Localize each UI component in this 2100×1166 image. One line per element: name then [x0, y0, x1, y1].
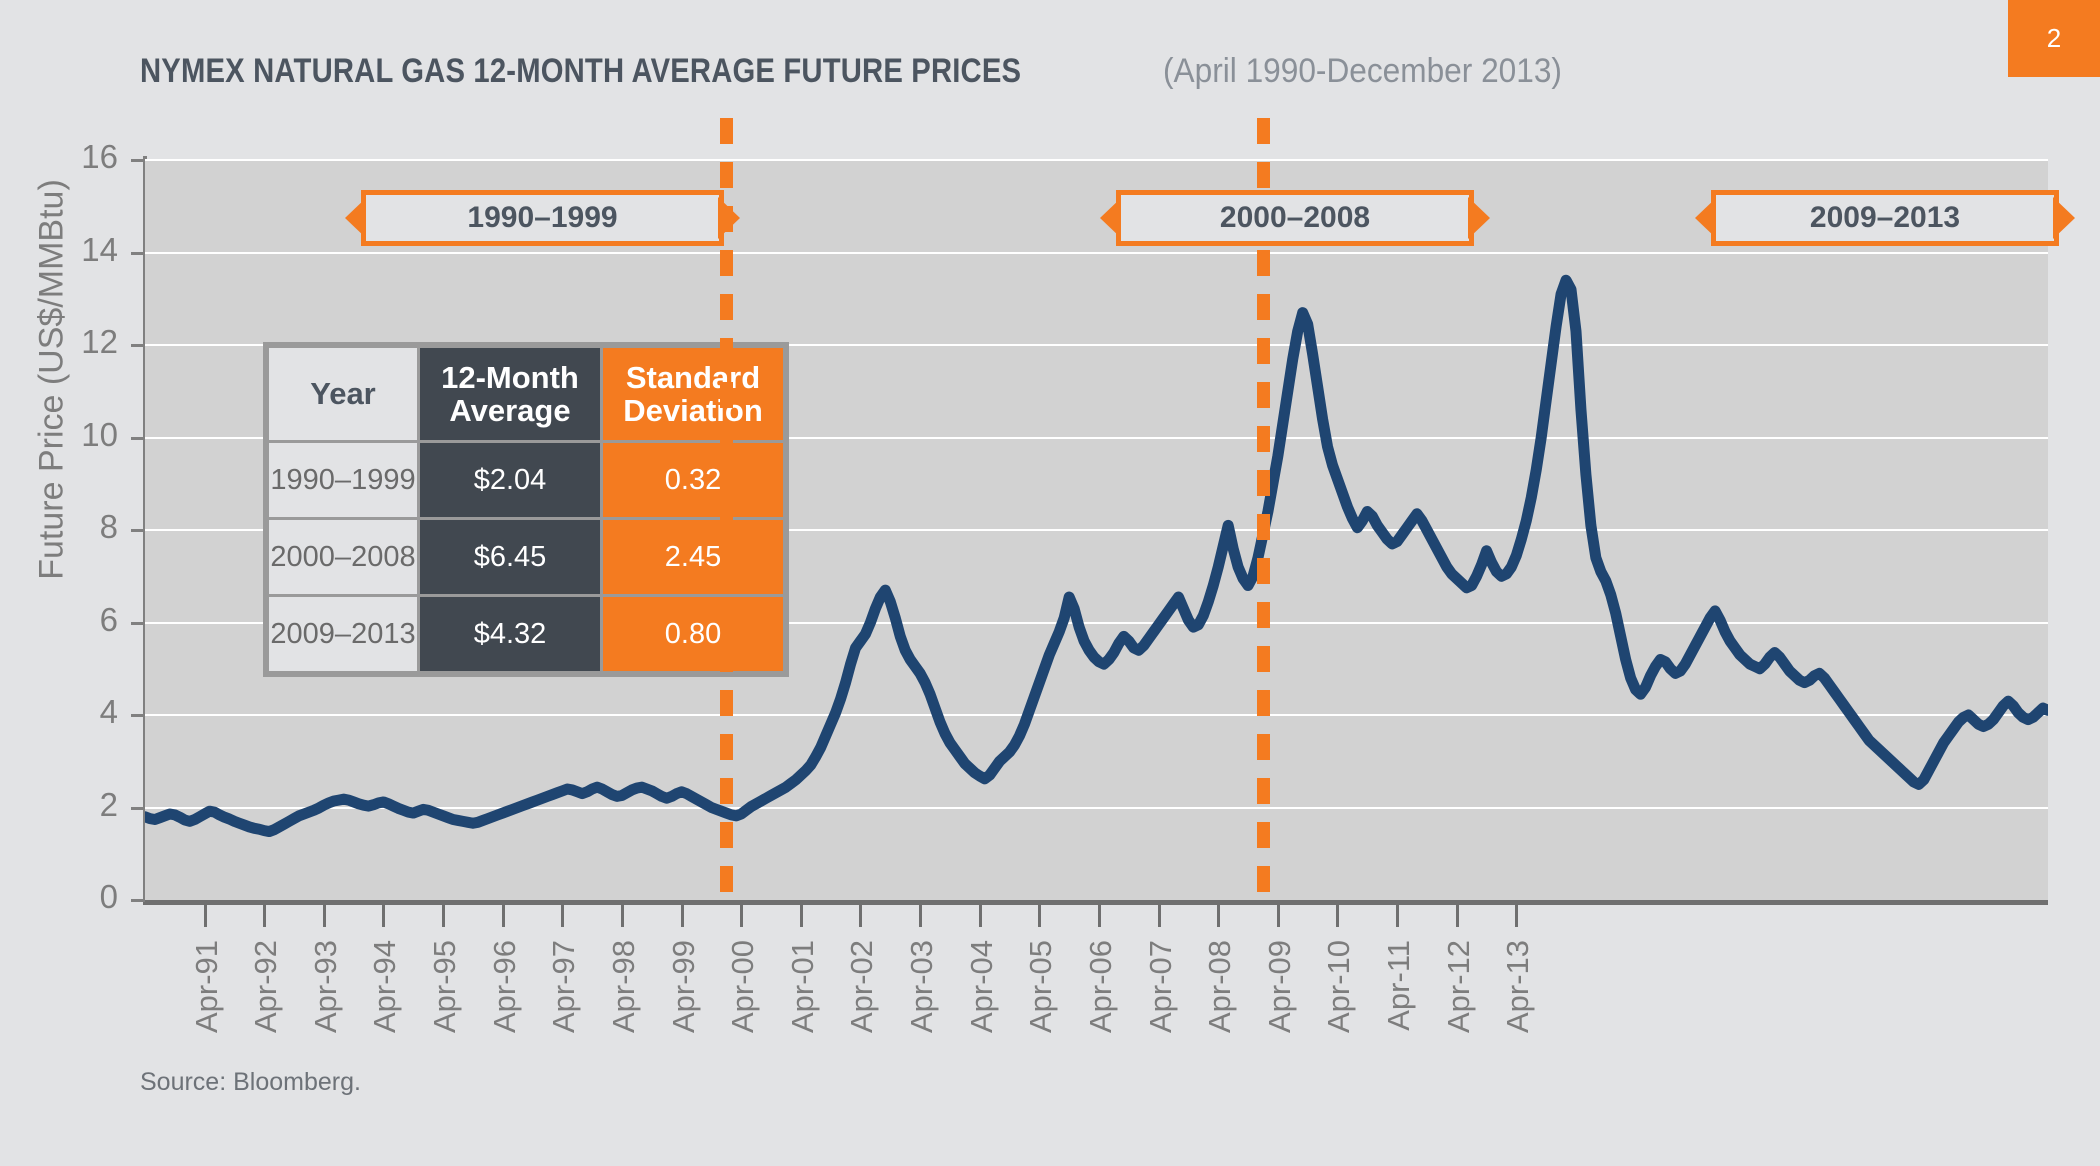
table-row: 2009–2013$4.320.80: [268, 596, 785, 673]
x-axis-tick: [1396, 905, 1399, 927]
cell-stdev: 2.45: [602, 519, 785, 596]
x-axis-tick-label: Apr-06: [1083, 940, 1119, 1033]
x-axis-tick: [561, 905, 564, 927]
x-axis-tick: [1098, 905, 1101, 927]
table-row: 2000–2008$6.452.45: [268, 519, 785, 596]
y-axis-tick: [131, 159, 145, 162]
x-axis-tick: [979, 905, 982, 927]
x-axis-tick-label: Apr-93: [308, 940, 344, 1033]
x-axis-tick: [1277, 905, 1280, 927]
x-axis-tick: [681, 905, 684, 927]
table-header-year: Year: [268, 347, 419, 442]
cell-average: $6.45: [419, 519, 602, 596]
slide-page: 2 NYMEX NATURAL GAS 12-MONTH AVERAGE FUT…: [0, 0, 2100, 1166]
period-banner-label: 2000–2008: [1116, 190, 1474, 246]
x-axis-tick: [1038, 905, 1041, 927]
table-row: 1990–1999$2.040.32: [268, 442, 785, 519]
page-title-main: NYMEX NATURAL GAS 12-MONTH AVERAGE FUTUR…: [140, 52, 1021, 91]
x-axis-tick-label: Apr-96: [487, 940, 523, 1033]
x-axis-tick: [442, 905, 445, 927]
cell-stdev: 0.32: [602, 442, 785, 519]
y-axis-tick: [131, 622, 145, 625]
source-note: Source: Bloomberg.: [140, 1068, 361, 1097]
y-axis-tick: [131, 252, 145, 255]
table-header-stdev-line1: Standard: [603, 361, 783, 394]
y-axis-tick: [131, 437, 145, 440]
y-axis-tick-label: 10: [58, 416, 118, 454]
x-axis-tick-label: Apr-08: [1202, 940, 1238, 1033]
x-axis-tick-label: Apr-07: [1143, 940, 1179, 1033]
y-axis-tick-label: 14: [58, 231, 118, 269]
x-axis-tick: [919, 905, 922, 927]
x-axis-tick: [1456, 905, 1459, 927]
y-axis-tick: [131, 807, 145, 810]
x-axis-tick-label: Apr-02: [844, 940, 880, 1033]
arrow-right-icon: [718, 197, 740, 239]
x-axis-tick: [263, 905, 266, 927]
period-banner-3: 2009–2013: [1695, 190, 2075, 246]
y-axis-tick-label: 4: [58, 693, 118, 731]
arrow-right-icon: [1468, 197, 1490, 239]
x-axis-tick-label: Apr-10: [1321, 940, 1357, 1033]
table-header-stdev: Standard Deviation: [602, 347, 785, 442]
table-header-stdev-line2: Deviation: [603, 394, 783, 427]
x-axis-tick-label: Apr-04: [964, 940, 1000, 1033]
y-axis-tick-label: 16: [58, 138, 118, 176]
x-axis-tick: [621, 905, 624, 927]
cell-stdev: 0.80: [602, 596, 785, 673]
x-axis-tick-label: Apr-92: [248, 940, 284, 1033]
x-axis-tick-label: Apr-00: [725, 940, 761, 1033]
y-axis-tick-label: 0: [58, 878, 118, 916]
x-axis-tick-label: Apr-12: [1441, 940, 1477, 1033]
x-axis-tick-label: Apr-99: [666, 940, 702, 1033]
x-axis-tick-label: Apr-09: [1262, 940, 1298, 1033]
period-banner-label: 2009–2013: [1711, 190, 2059, 246]
x-axis-tick: [323, 905, 326, 927]
period-banner-label: 1990–1999: [361, 190, 724, 246]
x-axis-tick: [740, 905, 743, 927]
y-axis-tick: [131, 899, 145, 902]
page-number-text: 2: [2047, 23, 2061, 54]
cell-average: $4.32: [419, 596, 602, 673]
x-axis-tick-label: Apr-97: [546, 940, 582, 1033]
y-axis-tick: [131, 529, 145, 532]
x-axis-tick: [800, 905, 803, 927]
y-axis-tick-label: 6: [58, 601, 118, 639]
cell-year: 2000–2008: [268, 519, 419, 596]
table-header-average: 12-Month Average: [419, 347, 602, 442]
x-axis-tick: [1217, 905, 1220, 927]
x-axis-tick: [1158, 905, 1161, 927]
x-axis-tick-label: Apr-05: [1023, 940, 1059, 1033]
page-number-badge: 2: [2008, 0, 2100, 77]
statistics-table: Year 12-Month Average Standard Deviation…: [266, 345, 786, 674]
x-axis-tick-label: Apr-91: [189, 940, 225, 1033]
table-header-average-line2: Average: [420, 394, 600, 427]
x-axis-tick: [1515, 905, 1518, 927]
x-axis-tick-label: Apr-11: [1381, 940, 1417, 1031]
cell-year: 1990–1999: [268, 442, 419, 519]
y-axis-title: Future Price (US$/MMBtu): [33, 100, 72, 660]
table-header-row: Year 12-Month Average Standard Deviation: [268, 347, 785, 442]
x-axis-tick-label: Apr-98: [606, 940, 642, 1033]
x-axis-tick-label: Apr-01: [785, 940, 821, 1033]
x-axis-tick: [502, 905, 505, 927]
y-axis-tick-label: 12: [58, 323, 118, 361]
cell-year: 2009–2013: [268, 596, 419, 673]
cell-average: $2.04: [419, 442, 602, 519]
x-axis-tick: [382, 905, 385, 927]
x-axis-tick: [204, 905, 207, 927]
x-axis-tick-label: Apr-95: [427, 940, 463, 1033]
page-title: NYMEX NATURAL GAS 12-MONTH AVERAGE FUTUR…: [140, 52, 1592, 91]
y-axis-tick: [131, 344, 145, 347]
x-axis-tick-label: Apr-13: [1500, 940, 1536, 1033]
arrow-right-icon: [2053, 197, 2075, 239]
x-axis-tick: [1336, 905, 1339, 927]
x-axis-tick-label: Apr-03: [904, 940, 940, 1033]
x-axis-tick-label: Apr-94: [367, 940, 403, 1033]
y-axis-tick-label: 8: [58, 508, 118, 546]
table-header-average-line1: 12-Month: [420, 361, 600, 394]
x-axis-tick: [859, 905, 862, 927]
y-axis-tick-label: 2: [58, 786, 118, 824]
period-banner-1: 1990–1999: [345, 190, 740, 246]
page-title-subtitle: (April 1990-December 2013): [1163, 52, 1562, 91]
y-axis-tick: [131, 714, 145, 717]
table-body: 1990–1999$2.040.322000–2008$6.452.452009…: [268, 442, 785, 673]
period-banner-2: 2000–2008: [1100, 190, 1490, 246]
x-axis-line: [143, 900, 2048, 905]
